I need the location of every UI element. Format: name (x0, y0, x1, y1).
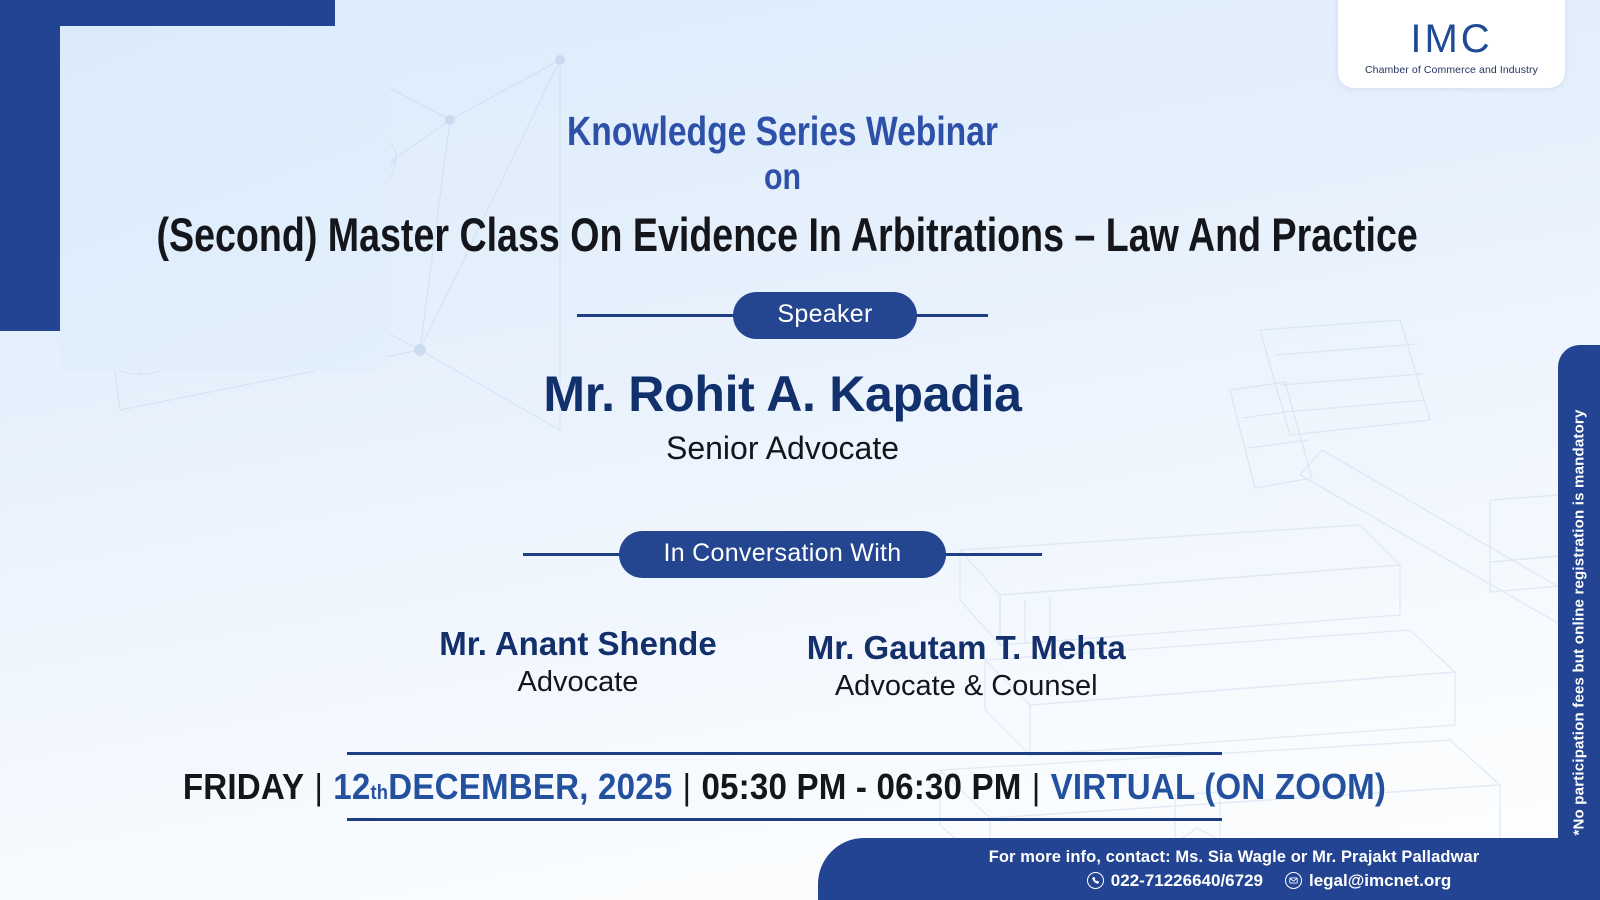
panelist-item: Mr. Gautam T. Mehta Advocate & Counsel (807, 629, 1126, 703)
event-details-line: FRIDAY | 12 th DECEMBER, 2025 | 05:30 PM… (382, 755, 1187, 818)
contact-banner: For more info, contact: Ms. Sia Wagle or… (818, 838, 1600, 900)
flyer-content: Knowledge Series Webinar on (Second) Mas… (0, 0, 1565, 900)
detail-separator: | (672, 766, 701, 808)
contact-persons: For more info, contact: Ms. Sia Wagle or… (989, 848, 1480, 867)
contact-phone: 022-71226640/6729 (1111, 871, 1263, 891)
event-date-number: 12 (333, 766, 370, 808)
panelist-name: Mr. Gautam T. Mehta (807, 629, 1126, 668)
imc-logo-subtitle: Chamber of Commerce and Industry (1365, 64, 1538, 76)
conversation-pill-row: In Conversation With (0, 531, 1565, 578)
email-circle-icon (1285, 872, 1302, 889)
registration-note-text: *No participation fees but online regist… (1571, 409, 1588, 835)
contact-email: legal@imcnet.org (1309, 871, 1451, 891)
speaker-role: Senior Advocate (0, 430, 1565, 467)
webinar-flyer: IMC Chamber of Commerce and Industry *No… (0, 0, 1600, 900)
speaker-block: Mr. Rohit A. Kapadia Senior Advocate (0, 366, 1565, 467)
panelist-role: Advocate & Counsel (807, 670, 1126, 703)
event-date-ordinal: th (370, 782, 388, 805)
webinar-kicker: Knowledge Series Webinar on (141, 108, 1424, 200)
conversation-pill-label: In Conversation With (619, 531, 945, 578)
pill-rule-left (577, 314, 757, 317)
panelist-list: Mr. Anant Shende Advocate Mr. Gautam T. … (0, 625, 1565, 703)
imc-logo-card: IMC Chamber of Commerce and Industry (1338, 0, 1565, 88)
speaker-pill-row: Speaker (0, 292, 1565, 339)
registration-note-strip: *No participation fees but online regist… (1558, 345, 1600, 900)
speaker-pill-label: Speaker (733, 292, 916, 339)
speaker-name: Mr. Rohit A. Kapadia (0, 366, 1565, 422)
kicker-line2: on (141, 154, 1424, 200)
page-title: (Second) Master Class On Evidence In Arb… (157, 208, 1409, 262)
panelist-item: Mr. Anant Shende Advocate (439, 625, 716, 703)
phone-circle-icon (1087, 872, 1104, 889)
detail-separator: | (304, 766, 333, 808)
imc-logo-mark: IMC (1410, 19, 1492, 59)
panelist-name: Mr. Anant Shende (439, 625, 716, 664)
detail-separator: | (1022, 766, 1051, 808)
kicker-line1: Knowledge Series Webinar (567, 108, 998, 154)
event-date-rest: DECEMBER, 2025 (388, 766, 672, 808)
event-details-strip: FRIDAY | 12 th DECEMBER, 2025 | 05:30 PM… (347, 752, 1222, 821)
details-rule-bottom (347, 818, 1222, 821)
event-day: FRIDAY (183, 766, 304, 808)
event-time: 05:30 PM - 06:30 PM (701, 766, 1021, 808)
event-venue: VIRTUAL (ON ZOOM) (1051, 766, 1387, 808)
panelist-role: Advocate (439, 666, 716, 699)
contact-channels: 022-71226640/6729 legal@imcnet.org (1017, 871, 1451, 891)
